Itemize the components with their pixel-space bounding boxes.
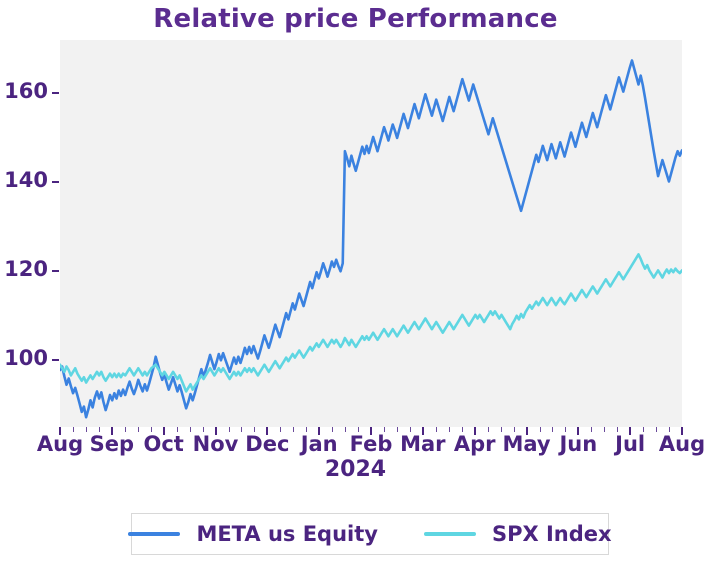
x-tick-mark-minor [306,427,307,432]
x-tick-mark-major [318,427,320,435]
x-tick-mark-minor [643,427,644,432]
x-tick-mark-minor [99,427,100,432]
x-tick-label: Feb [331,432,411,456]
plot-area [60,40,682,427]
y-tick-mark [52,92,59,94]
plot-svg [60,40,682,427]
x-tick-mark-minor [345,427,346,432]
x-tick-label: Mar [383,432,463,456]
x-tick-label: Oct [124,432,204,456]
x-tick-mark-minor [293,427,294,432]
series-layer [60,60,682,417]
x-tick-mark-minor [397,427,398,432]
x-tick-mark-minor [73,427,74,432]
y-tick-mark [52,181,59,183]
x-tick-mark-major [422,427,424,435]
x-tick-mark-minor [229,427,230,432]
x-tick-mark-minor [604,427,605,432]
x-tick-mark-major [629,427,631,435]
x-tick-mark-minor [449,427,450,432]
x-tick-mark-minor [177,427,178,432]
legend-entry-spx[interactable]: SPX Index [424,522,612,546]
x-tick-mark-minor [125,427,126,432]
y-tick-label: 100 [0,346,48,370]
x-tick-mark-minor [656,427,657,432]
x-tick-mark-minor [669,427,670,432]
y-tick-mark [52,359,59,361]
x-tick-mark-minor [384,427,385,432]
x-tick-label: Jan [279,432,359,456]
x-tick-mark-minor [410,427,411,432]
x-tick-mark-minor [436,427,437,432]
x-axis-title: 2024 [0,457,711,482]
x-tick-mark-major [59,427,61,435]
chart-figure: Relative price Performance 100120140160 … [0,0,711,568]
x-tick-mark-minor [203,427,204,432]
x-tick-mark-major [526,427,528,435]
x-tick-mark-minor [591,427,592,432]
x-tick-mark-minor [280,427,281,432]
series-line-meta [60,60,682,417]
x-tick-mark-minor [151,427,152,432]
y-tick-label: 140 [0,168,48,192]
x-tick-mark-minor [86,427,87,432]
chart-legend: META us EquitySPX Index [131,513,609,555]
x-tick-mark-minor [190,427,191,432]
legend-entry-meta[interactable]: META us Equity [128,522,378,546]
x-tick-mark-major [266,427,268,435]
x-tick-label: Dec [227,432,307,456]
x-tick-mark-minor [617,427,618,432]
y-tick-label: 160 [0,79,48,103]
x-tick-mark-major [577,427,579,435]
x-tick-mark-major [370,427,372,435]
x-tick-mark-minor [540,427,541,432]
x-tick-label: Sep [72,432,152,456]
x-tick-mark-major [681,427,683,435]
x-tick-label: Nov [176,432,256,456]
x-tick-mark-minor [501,427,502,432]
x-tick-mark-minor [254,427,255,432]
x-tick-label: Aug [20,432,100,456]
x-tick-mark-minor [488,427,489,432]
x-tick-label: May [487,432,567,456]
x-tick-mark-minor [358,427,359,432]
x-tick-label: Jul [590,432,670,456]
x-tick-mark-minor [565,427,566,432]
x-tick-label: Jun [538,432,618,456]
legend-line-swatch [128,532,180,536]
x-tick-mark-minor [332,427,333,432]
x-tick-mark-major [215,427,217,435]
y-tick-mark [52,270,59,272]
y-tick-label: 120 [0,257,48,281]
legend-label: SPX Index [492,522,612,546]
x-tick-mark-major [474,427,476,435]
x-tick-label: Aug [642,432,711,456]
x-tick-mark-minor [514,427,515,432]
x-tick-mark-major [111,427,113,435]
x-tick-mark-major [163,427,165,435]
legend-label: META us Equity [196,522,378,546]
x-tick-mark-minor [552,427,553,432]
x-tick-mark-minor [138,427,139,432]
x-tick-label: Apr [435,432,515,456]
chart-title: Relative price Performance [0,4,711,34]
x-tick-mark-minor [241,427,242,432]
x-tick-mark-minor [462,427,463,432]
legend-line-swatch [424,532,476,536]
